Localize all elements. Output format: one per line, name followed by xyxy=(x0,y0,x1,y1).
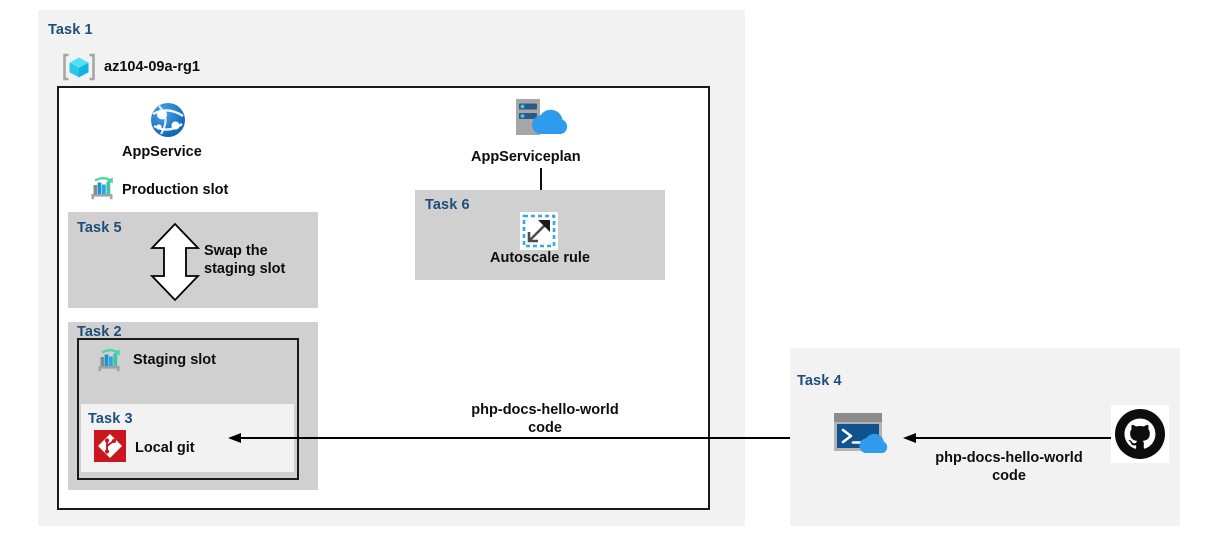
staging-slot-label: Staging slot xyxy=(133,351,216,369)
task6-label: Task 6 xyxy=(425,197,470,213)
task4-label: Task 4 xyxy=(797,373,842,389)
swap-slot-label-line2: staging slot xyxy=(204,261,285,277)
resource-group-icon xyxy=(62,50,96,84)
swap-double-arrow-icon xyxy=(148,222,202,302)
resource-group-label: az104-09a-rg1 xyxy=(104,58,200,76)
edge-cloudshell-label-line1: php-docs-hello-world xyxy=(471,402,618,418)
deployment-slot-icon-production xyxy=(88,173,118,203)
edge-cloudshell-to-localgit xyxy=(228,430,818,446)
task1-label: Task 1 xyxy=(48,22,93,38)
swap-slot-label-line1: Swap the xyxy=(204,243,268,259)
local-git-label: Local git xyxy=(135,439,195,457)
app-service-label: AppService xyxy=(122,143,202,161)
edge-github-label-line2: code xyxy=(992,468,1026,484)
diagram-canvas: Task 1 az104-09a-rg1 xyxy=(0,0,1218,545)
edge-github-to-cloudshell xyxy=(903,430,1113,446)
autoscale-rule-label: Autoscale rule xyxy=(490,249,590,267)
edge-github-label: php-docs-hello-worldcode xyxy=(909,449,1109,485)
autoscale-rule-icon xyxy=(520,212,558,250)
app-service-icon xyxy=(148,100,188,140)
cloud-shell-icon xyxy=(832,411,900,459)
swap-slot-label: Swap thestaging slot xyxy=(204,242,314,278)
git-icon xyxy=(94,430,126,462)
app-service-plan-icon xyxy=(512,96,570,144)
edge-github-label-line1: php-docs-hello-world xyxy=(935,450,1082,466)
app-service-plan-label: AppServiceplan xyxy=(471,148,581,166)
task5-label: Task 5 xyxy=(77,220,122,236)
production-slot-label: Production slot xyxy=(122,181,228,199)
github-icon xyxy=(1111,405,1169,463)
deployment-slot-icon-staging xyxy=(95,345,125,375)
task3-label: Task 3 xyxy=(88,411,133,427)
